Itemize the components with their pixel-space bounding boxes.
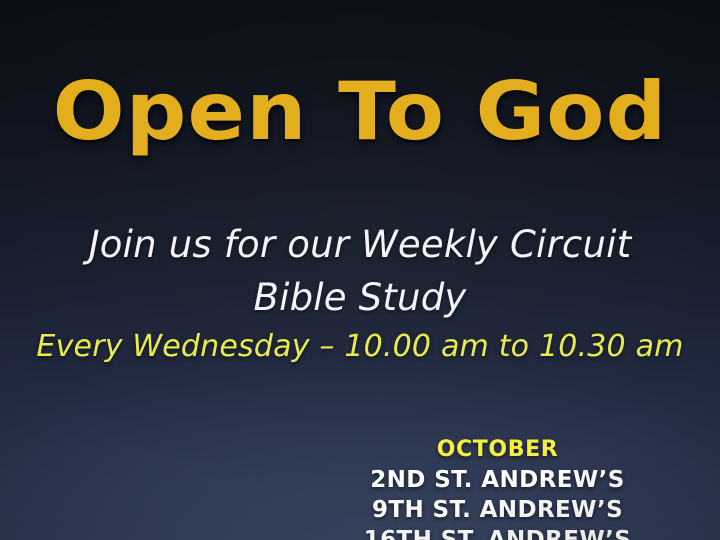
slide-title: Open To God <box>53 64 668 160</box>
schedule-text: Every Wednesday – 10.00 am to 10.30 am <box>36 326 683 368</box>
date-entry: 2ND ST. ANDREW’S <box>275 465 720 495</box>
date-entry: 9TH ST. ANDREW’S <box>275 495 720 525</box>
subtitle-row: Join us for our Weekly Circuit Bible Stu… <box>0 218 720 324</box>
date-entry: 16TH ST. ANDREW’S <box>275 525 720 540</box>
month-heading: OCTOBER <box>275 434 720 465</box>
title-row: Open To God <box>0 64 720 160</box>
dates-list: OCTOBER 2ND ST. ANDREW’S 9TH ST. ANDREW’… <box>0 434 720 540</box>
schedule-row: Every Wednesday – 10.00 am to 10.30 am <box>0 326 720 368</box>
slide-subtitle: Join us for our Weekly Circuit Bible Stu… <box>66 218 654 324</box>
presentation-slide: Open To God Join us for our Weekly Circu… <box>0 0 720 540</box>
